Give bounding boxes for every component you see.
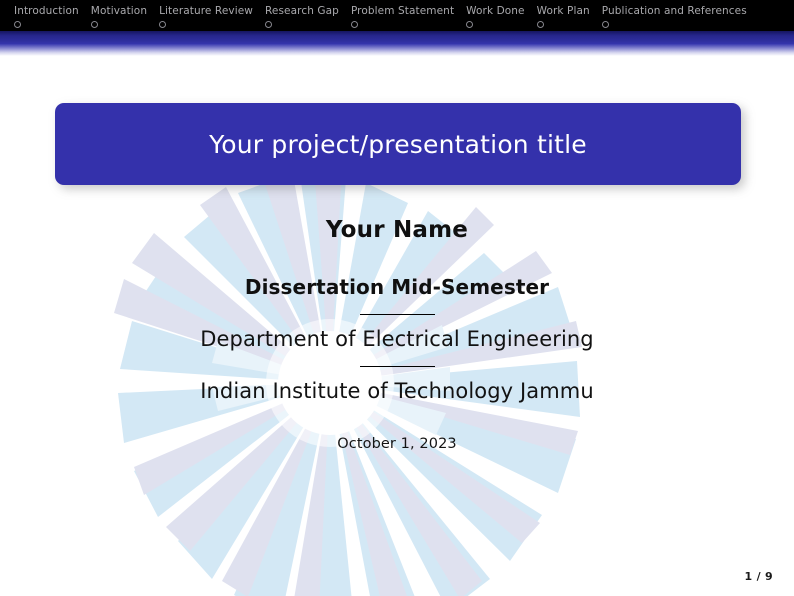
circle-outline-icon: [91, 21, 98, 28]
presentation-date: October 1, 2023: [0, 436, 794, 452]
circle-outline-icon: [159, 21, 166, 28]
institute-line: Indian Institute of Technology Jammu: [0, 377, 794, 405]
nav-item-problem-statement[interactable]: Problem Statement: [351, 0, 454, 31]
nav-item-label: Literature Review: [159, 0, 253, 20]
circle-outline-icon: [466, 21, 473, 28]
nav-item-introduction[interactable]: Introduction: [14, 0, 79, 31]
author-name: Your Name: [0, 215, 794, 245]
nav-item-work-done[interactable]: Work Done: [466, 0, 524, 31]
nav-item-label: Publication and References: [602, 0, 747, 20]
header-gradient-fade: [0, 44, 794, 56]
nav-item-literature-review[interactable]: Literature Review: [159, 0, 253, 31]
department-line: Department of Electrical Engineering: [0, 325, 794, 353]
circle-outline-icon: [14, 21, 21, 28]
presentation-subtitle: Dissertation Mid-Semester: [0, 273, 794, 301]
nav-item-label: Work Plan: [537, 0, 590, 20]
circle-outline-icon: [265, 21, 272, 28]
nav-item-label: Motivation: [91, 0, 147, 20]
nav-item-label: Problem Statement: [351, 0, 454, 20]
header-blue-bar: [0, 31, 794, 44]
circle-outline-icon: [351, 21, 358, 28]
nav-item-research-gap[interactable]: Research Gap: [265, 0, 339, 31]
page-title: Your project/presentation title: [209, 130, 587, 159]
nav-item-label: Research Gap: [265, 0, 339, 20]
nav-item-publication-and-references[interactable]: Publication and References: [602, 0, 747, 31]
nav-item-work-plan[interactable]: Work Plan: [537, 0, 590, 31]
divider-rule-bottom: [360, 366, 435, 367]
circle-outline-icon: [537, 21, 544, 28]
title-slide-content: Your Name Dissertation Mid-Semester Depa…: [0, 215, 794, 452]
section-navigation-bar: Introduction Motivation Literature Revie…: [0, 0, 794, 31]
nav-item-label: Introduction: [14, 0, 79, 20]
circle-outline-icon: [602, 21, 609, 28]
title-box: Your project/presentation title: [55, 103, 741, 185]
nav-item-label: Work Done: [466, 0, 524, 20]
nav-item-motivation[interactable]: Motivation: [91, 0, 147, 31]
section-navigation-items: Introduction Motivation Literature Revie…: [14, 0, 759, 31]
presentation-slide: Introduction Motivation Literature Revie…: [0, 0, 794, 596]
slide-header: Introduction Motivation Literature Revie…: [0, 0, 794, 56]
page-number: 1 / 9: [745, 570, 773, 583]
divider-rule-top: [360, 314, 435, 315]
